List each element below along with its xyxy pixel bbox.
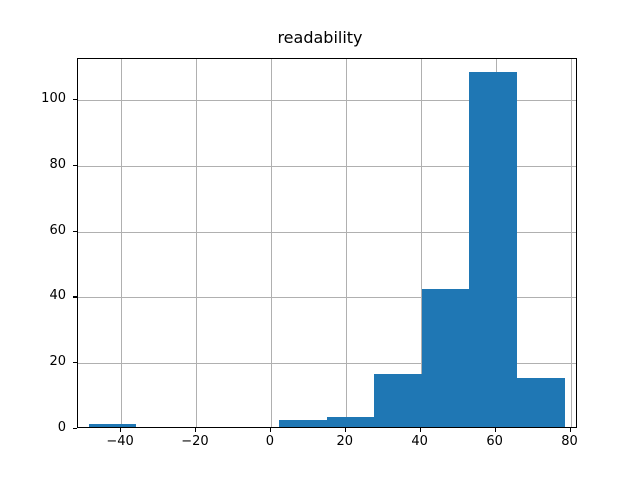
y-tick-label: 60 <box>20 224 66 237</box>
histogram-bar <box>279 420 327 427</box>
x-tick-label: 80 <box>540 435 600 449</box>
x-tick-mark <box>420 428 421 432</box>
y-tick-label: 0 <box>20 421 66 434</box>
x-tick-label: −40 <box>90 435 150 449</box>
gridline-x--40 <box>121 59 122 427</box>
x-tick-label: 20 <box>315 435 375 449</box>
x-tick-label: 40 <box>390 435 450 449</box>
x-tick-label: 60 <box>465 435 525 449</box>
gridline-x-80 <box>571 59 572 427</box>
gridline-x--20 <box>196 59 197 427</box>
y-tick-label: 80 <box>20 158 66 171</box>
y-tick-label: 40 <box>20 289 66 302</box>
x-tick-mark <box>120 428 121 432</box>
x-tick-mark <box>195 428 196 432</box>
gridline-x-20 <box>346 59 347 427</box>
histogram-bar <box>517 378 565 427</box>
histogram-bar <box>422 289 470 427</box>
chart-title: readability <box>0 28 640 48</box>
histogram-bar <box>89 424 137 427</box>
histogram-figure: readability 020406080100 −40−20020406080 <box>0 0 640 480</box>
histogram-bar <box>469 72 517 427</box>
y-tick-label: 100 <box>20 92 66 105</box>
x-tick-mark <box>570 428 571 432</box>
gridline-x-0 <box>271 59 272 427</box>
x-tick-mark <box>270 428 271 432</box>
y-tick-mark <box>73 428 77 429</box>
y-tick-label: 20 <box>20 355 66 368</box>
x-tick-label: 0 <box>240 435 300 449</box>
histogram-bar <box>327 417 375 427</box>
x-tick-mark <box>495 428 496 432</box>
plot-area <box>77 58 577 428</box>
x-tick-label: −20 <box>165 435 225 449</box>
x-tick-mark <box>345 428 346 432</box>
histogram-bar <box>374 374 422 427</box>
